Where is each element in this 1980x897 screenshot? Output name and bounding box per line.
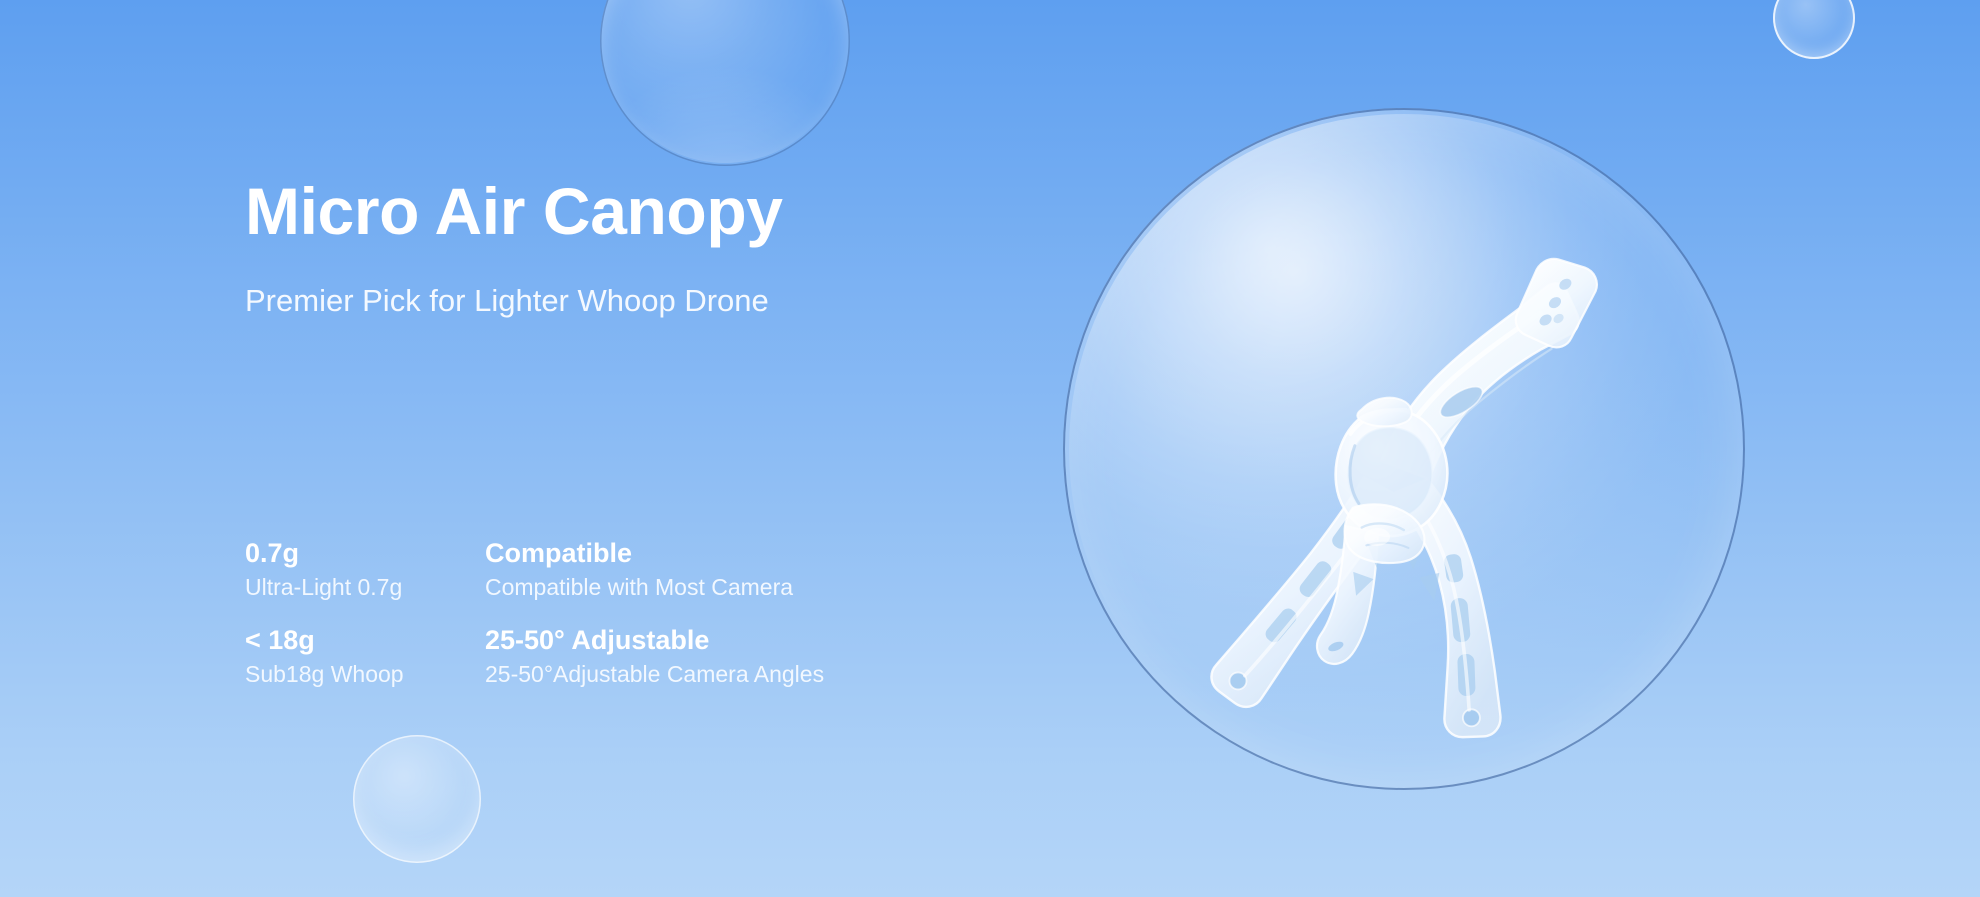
feature-description: Compatible with Most Camera <box>485 574 905 602</box>
feature-value: Compatible <box>485 538 905 570</box>
feature-item-weight: 0.7g Ultra-Light 0.7g <box>245 538 485 601</box>
feature-value: < 18g <box>245 625 485 657</box>
page-title: Micro Air Canopy <box>245 178 783 244</box>
feature-value: 25-50° Adjustable <box>485 625 905 657</box>
feature-description: Sub18g Whoop <box>245 661 485 689</box>
feature-grid: 0.7g Ultra-Light 0.7g Compatible Compati… <box>245 538 965 689</box>
product-banner: Micro Air Canopy Premier Pick for Lighte… <box>0 0 1980 897</box>
feature-item-drone-class: < 18g Sub18g Whoop <box>245 625 485 688</box>
feature-item-compatibility: Compatible Compatible with Most Camera <box>485 538 905 601</box>
feature-description: 25-50°Adjustable Camera Angles <box>485 661 905 689</box>
feature-item-camera-angle: 25-50° Adjustable 25-50°Adjustable Camer… <box>485 625 905 688</box>
page-subtitle: Premier Pick for Lighter Whoop Drone <box>245 285 769 316</box>
decorative-bubble-top-right <box>1773 0 1855 59</box>
product-glass-bubble <box>1063 108 1745 790</box>
drone-canopy-product-image <box>1063 108 1745 790</box>
feature-description: Ultra-Light 0.7g <box>245 574 485 602</box>
text-content-column: Micro Air Canopy Premier Pick for Lighte… <box>245 0 1005 897</box>
feature-value: 0.7g <box>245 538 485 570</box>
canopy-top-nub <box>1357 397 1412 427</box>
